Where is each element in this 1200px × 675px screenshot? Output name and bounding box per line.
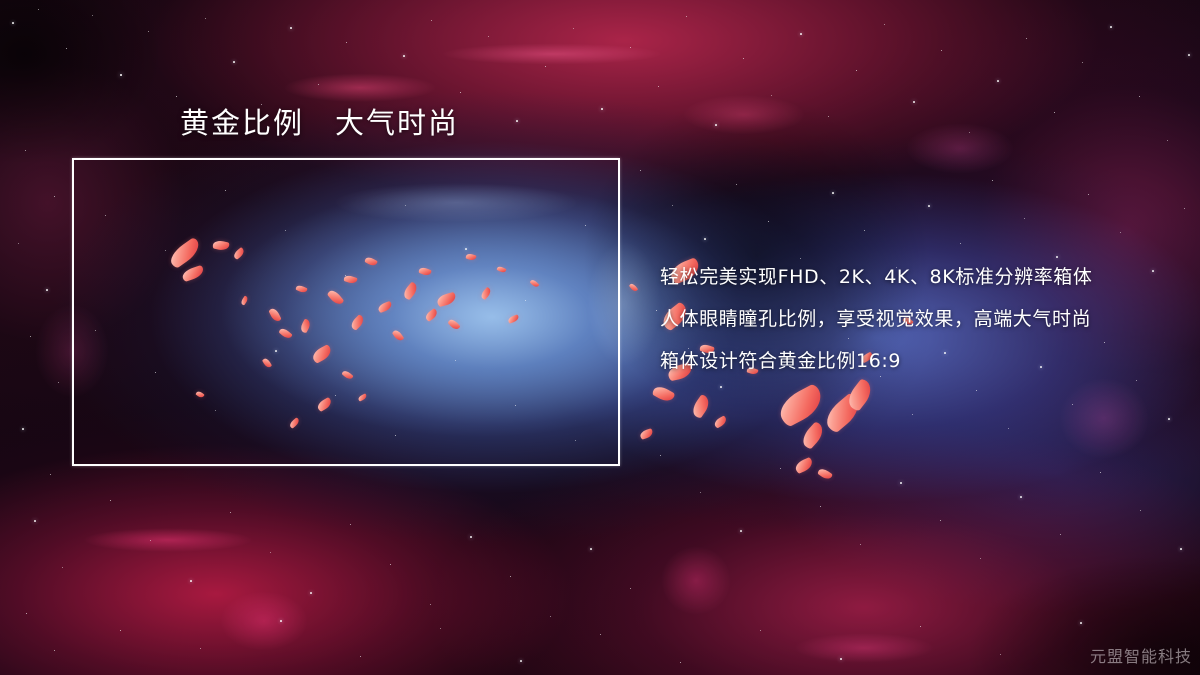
star-dot — [686, 16, 687, 17]
star-dot — [680, 662, 681, 663]
star-dot — [488, 36, 489, 37]
star-dot — [120, 630, 121, 631]
star-dot — [900, 482, 902, 484]
star-dot — [1000, 654, 1001, 655]
star-dot — [832, 192, 834, 194]
flower-petal — [713, 415, 728, 428]
star-dot — [510, 576, 511, 577]
star-dot — [1088, 194, 1089, 195]
star-dot — [360, 656, 361, 657]
star-dot — [150, 540, 151, 541]
star-dot — [1060, 534, 1061, 535]
flower-petal — [689, 394, 712, 419]
star-dot — [1120, 232, 1121, 233]
star-dot — [26, 613, 27, 614]
star-dot — [545, 66, 546, 67]
star-dot — [928, 205, 930, 207]
star-dot — [768, 221, 769, 222]
star-dot — [50, 474, 51, 475]
star-dot — [440, 628, 441, 629]
star-dot — [310, 592, 312, 594]
star-dot — [736, 184, 737, 185]
flower-petal — [629, 282, 638, 292]
feature-list: 轻松完美实现FHD、2K、4K、8K标准分辨率箱体 人体眼睛瞳孔比例，享受视觉效… — [660, 256, 1180, 382]
star-dot — [573, 28, 574, 29]
star-dot — [1024, 218, 1025, 219]
star-dot — [704, 238, 706, 240]
star-dot — [92, 15, 93, 16]
star-dot — [816, 400, 818, 402]
star-dot — [176, 96, 177, 97]
flower-petal — [844, 378, 877, 413]
flower-petal — [651, 384, 675, 405]
star-dot — [860, 544, 861, 545]
star-dot — [976, 390, 977, 391]
star-dot — [58, 382, 59, 383]
star-dot — [828, 116, 829, 117]
star-dot — [550, 616, 551, 617]
star-dot — [66, 48, 67, 49]
star-dot — [640, 170, 641, 171]
brand-watermark: 元盟智能科技 — [1090, 643, 1192, 667]
star-dot — [200, 648, 201, 649]
star-dot — [25, 150, 26, 151]
star-dot — [1100, 472, 1101, 473]
star-dot — [270, 552, 271, 553]
star-dot — [700, 492, 701, 493]
flower-petal — [799, 421, 828, 450]
star-dot — [740, 530, 742, 532]
star-dot — [390, 564, 391, 565]
star-dot — [46, 289, 48, 291]
star-dot — [38, 9, 39, 10]
star-dot — [12, 22, 14, 24]
flower-petal — [794, 457, 815, 474]
star-dot — [1184, 208, 1185, 209]
star-dot — [280, 620, 282, 622]
star-dot — [856, 70, 857, 71]
star-dot — [18, 243, 19, 244]
star-dot — [720, 386, 722, 388]
flower-petal — [639, 428, 654, 440]
star-dot — [430, 604, 431, 605]
star-dot — [516, 120, 518, 122]
star-dot — [800, 33, 802, 35]
star-dot — [920, 626, 921, 627]
flower-petal — [774, 383, 827, 428]
star-dot — [520, 660, 522, 662]
star-dot — [601, 108, 603, 110]
star-dot — [960, 243, 961, 244]
star-dot — [940, 520, 941, 521]
flower-petal — [821, 392, 866, 435]
star-dot — [1082, 62, 1083, 63]
star-dot — [54, 196, 55, 197]
star-dot — [600, 634, 601, 635]
star-dot — [318, 84, 319, 85]
star-dot — [630, 588, 631, 589]
star-dot — [840, 658, 842, 660]
display-cabinet-preview-frame — [72, 158, 620, 466]
feature-line-3: 箱体设计符合黄金比例16:9 — [660, 340, 1180, 382]
star-dot — [190, 580, 192, 582]
star-dot — [205, 18, 206, 19]
feature-line-2: 人体眼睛瞳孔比例，享受视觉效果，高端大气时尚 — [660, 298, 1180, 340]
star-dot — [1072, 404, 1073, 405]
star-dot — [230, 512, 231, 513]
star-dot — [233, 61, 235, 63]
star-dot — [997, 80, 999, 82]
star-dot — [290, 27, 292, 29]
star-dot — [780, 468, 781, 469]
star-dot — [715, 124, 717, 126]
star-dot — [590, 548, 592, 550]
star-dot — [1026, 38, 1027, 39]
page-title: 黄金比例 大气时尚 — [180, 100, 459, 142]
star-dot — [1080, 622, 1082, 624]
star-dot — [1180, 548, 1182, 550]
star-dot — [30, 336, 31, 337]
star-dot — [1188, 54, 1190, 56]
star-dot — [1020, 496, 1022, 498]
feature-line-1: 轻松完美实现FHD、2K、4K、8K标准分辨率箱体 — [660, 256, 1180, 298]
star-dot — [969, 132, 970, 133]
star-dot — [1139, 96, 1140, 97]
flower-petal — [817, 467, 833, 482]
star-dot — [864, 230, 865, 231]
star-dot — [656, 310, 657, 311]
star-dot — [350, 524, 351, 525]
star-dot — [460, 92, 461, 93]
star-dot — [980, 558, 981, 559]
star-dot — [470, 536, 472, 538]
star-dot — [743, 58, 744, 59]
star-dot — [1167, 140, 1168, 141]
star-dot — [660, 455, 661, 456]
star-dot — [630, 47, 631, 48]
star-dot — [912, 414, 913, 415]
star-dot — [672, 205, 673, 206]
star-dot — [884, 24, 885, 25]
star-dot — [54, 650, 55, 651]
star-dot — [1054, 112, 1055, 113]
presentation-slide: 黄金比例 大气时尚 轻松完美实现FHD、2K、4K、8K标准分辨率箱体 人体眼睛… — [0, 0, 1200, 675]
star-dot — [346, 42, 347, 43]
star-dot — [34, 520, 36, 522]
star-dot — [771, 95, 772, 96]
star-dot — [148, 31, 149, 32]
star-dot — [913, 101, 915, 103]
star-dot — [62, 567, 63, 568]
star-dot — [658, 86, 659, 87]
star-dot — [941, 50, 942, 51]
star-dot — [1140, 510, 1141, 511]
star-dot — [431, 20, 432, 21]
star-dot — [992, 180, 993, 181]
star-dot — [1008, 428, 1009, 429]
star-dot — [120, 74, 122, 76]
star-dot — [22, 428, 24, 430]
star-dot — [1168, 418, 1170, 420]
star-dot — [110, 500, 111, 501]
star-dot — [1110, 26, 1112, 28]
star-dot — [403, 55, 405, 57]
star-dot — [820, 506, 821, 507]
star-dot — [760, 630, 761, 631]
